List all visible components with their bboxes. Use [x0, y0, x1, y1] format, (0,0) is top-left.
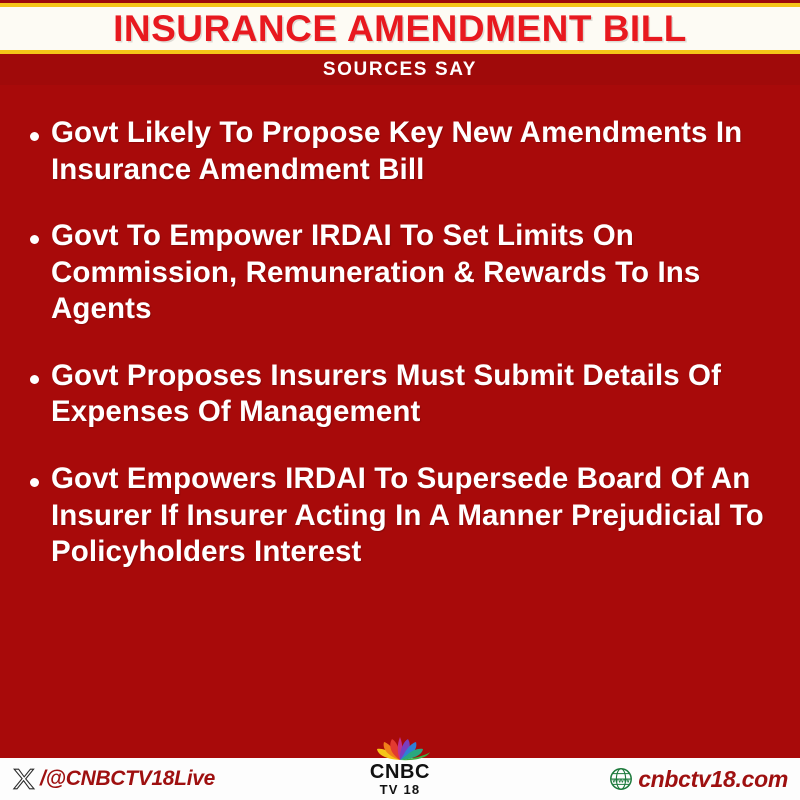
page-title: INSURANCE AMENDMENT BILL	[113, 10, 687, 47]
header: INSURANCE AMENDMENT BILL SOURCES SAY	[0, 0, 800, 85]
cnbc-wordmark: CNBC	[370, 762, 430, 782]
website-text: cnbctv18.com	[638, 766, 788, 793]
list-item: Govt Proposes Insurers Must Submit Detai…	[24, 358, 776, 431]
list-item-text: Govt To Empower IRDAI To Set Limits On C…	[51, 218, 776, 328]
tv18-wordmark: TV 18	[380, 782, 421, 798]
social-handle-group[interactable]: /@CNBCTV18Live	[12, 767, 215, 791]
list-item-text: Govt Empowers IRDAI To Supersede Board O…	[51, 461, 776, 571]
news-graphic-card: INSURANCE AMENDMENT BILL SOURCES SAY Gov…	[0, 0, 800, 800]
x-twitter-icon	[12, 767, 36, 791]
list-item: Govt To Empower IRDAI To Set Limits On C…	[24, 218, 776, 328]
bullet-dot-icon	[30, 478, 39, 487]
list-item: Govt Likely To Propose Key New Amendment…	[24, 115, 776, 188]
globe-www-icon: www	[608, 766, 634, 792]
bullet-dot-icon	[30, 132, 39, 141]
title-banner: INSURANCE AMENDMENT BILL	[0, 3, 800, 54]
bullet-dot-icon	[30, 235, 39, 244]
website-group[interactable]: www cnbctv18.com	[608, 766, 788, 793]
list-item-text: Govt Proposes Insurers Must Submit Detai…	[51, 358, 776, 431]
social-handle-text: /@CNBCTV18Live	[40, 767, 215, 791]
bullet-list: Govt Likely To Propose Key New Amendment…	[0, 85, 800, 758]
subtitle: SOURCES SAY	[323, 59, 477, 81]
subtitle-bar: SOURCES SAY	[0, 54, 800, 85]
cnbc-tv18-logo: CNBC TV 18	[352, 734, 448, 798]
peacock-icon	[367, 734, 433, 762]
list-item: Govt Empowers IRDAI To Supersede Board O…	[24, 461, 776, 571]
bullet-dot-icon	[30, 375, 39, 384]
svg-text:www: www	[611, 776, 630, 785]
list-item-text: Govt Likely To Propose Key New Amendment…	[51, 115, 776, 188]
